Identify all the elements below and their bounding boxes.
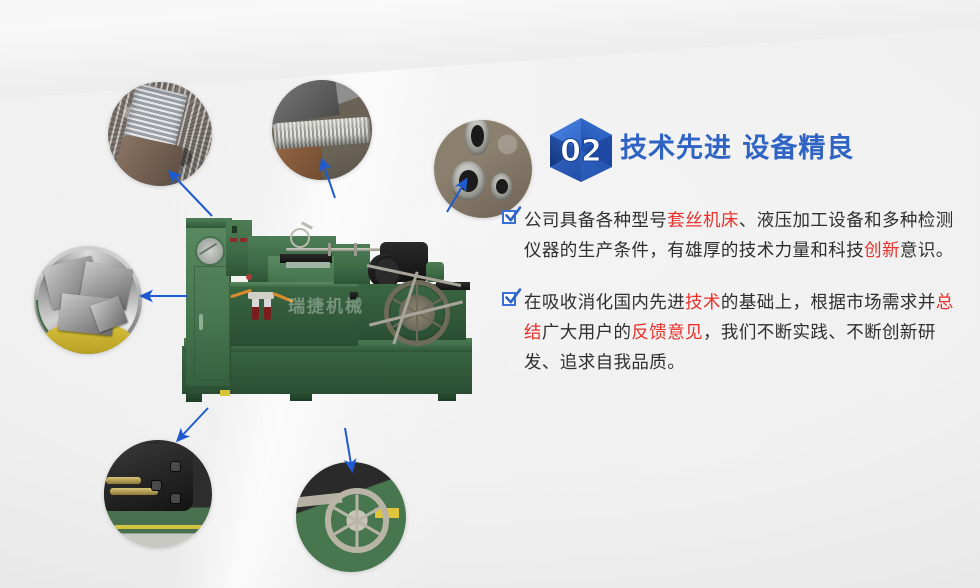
arrow-to-manifold [178,408,208,440]
feature-text-1: 公司具备各种型号套丝机床、液压加工设备和多种检测仪器的生产条件，有雄厚的技术力量… [524,206,964,266]
section-heading: 技术先进 设备精良 [620,126,854,165]
list-item: 在吸收消化国内先进技术的基础上，根据市场需求并总结广大用户的反馈意见，我们不断实… [502,288,964,378]
section-number-badge: 02 [546,116,616,184]
feature-text-2: 在吸收消化国内先进技术的基础上，根据市场需求并总结广大用户的反馈意见，我们不断实… [524,288,964,378]
arrow-to-threaded-bar [322,160,335,198]
list-item: 公司具备各种型号套丝机床、液压加工设备和多种检测仪器的生产条件，有雄厚的技术力量… [502,206,964,266]
promo-banner: 瑞捷机械 [0,0,980,588]
section-number-text: 02 [560,134,602,169]
checkbox-checked-icon [502,292,521,311]
arrow-to-threaded-rod [170,172,212,216]
checkbox-checked-icon [502,210,521,229]
arrow-to-handwheel [345,428,352,470]
feature-list: 公司具备各种型号套丝机床、液压加工设备和多种检测仪器的生产条件，有雄厚的技术力量… [502,206,964,400]
arrow-to-pipe-ends [447,180,466,212]
